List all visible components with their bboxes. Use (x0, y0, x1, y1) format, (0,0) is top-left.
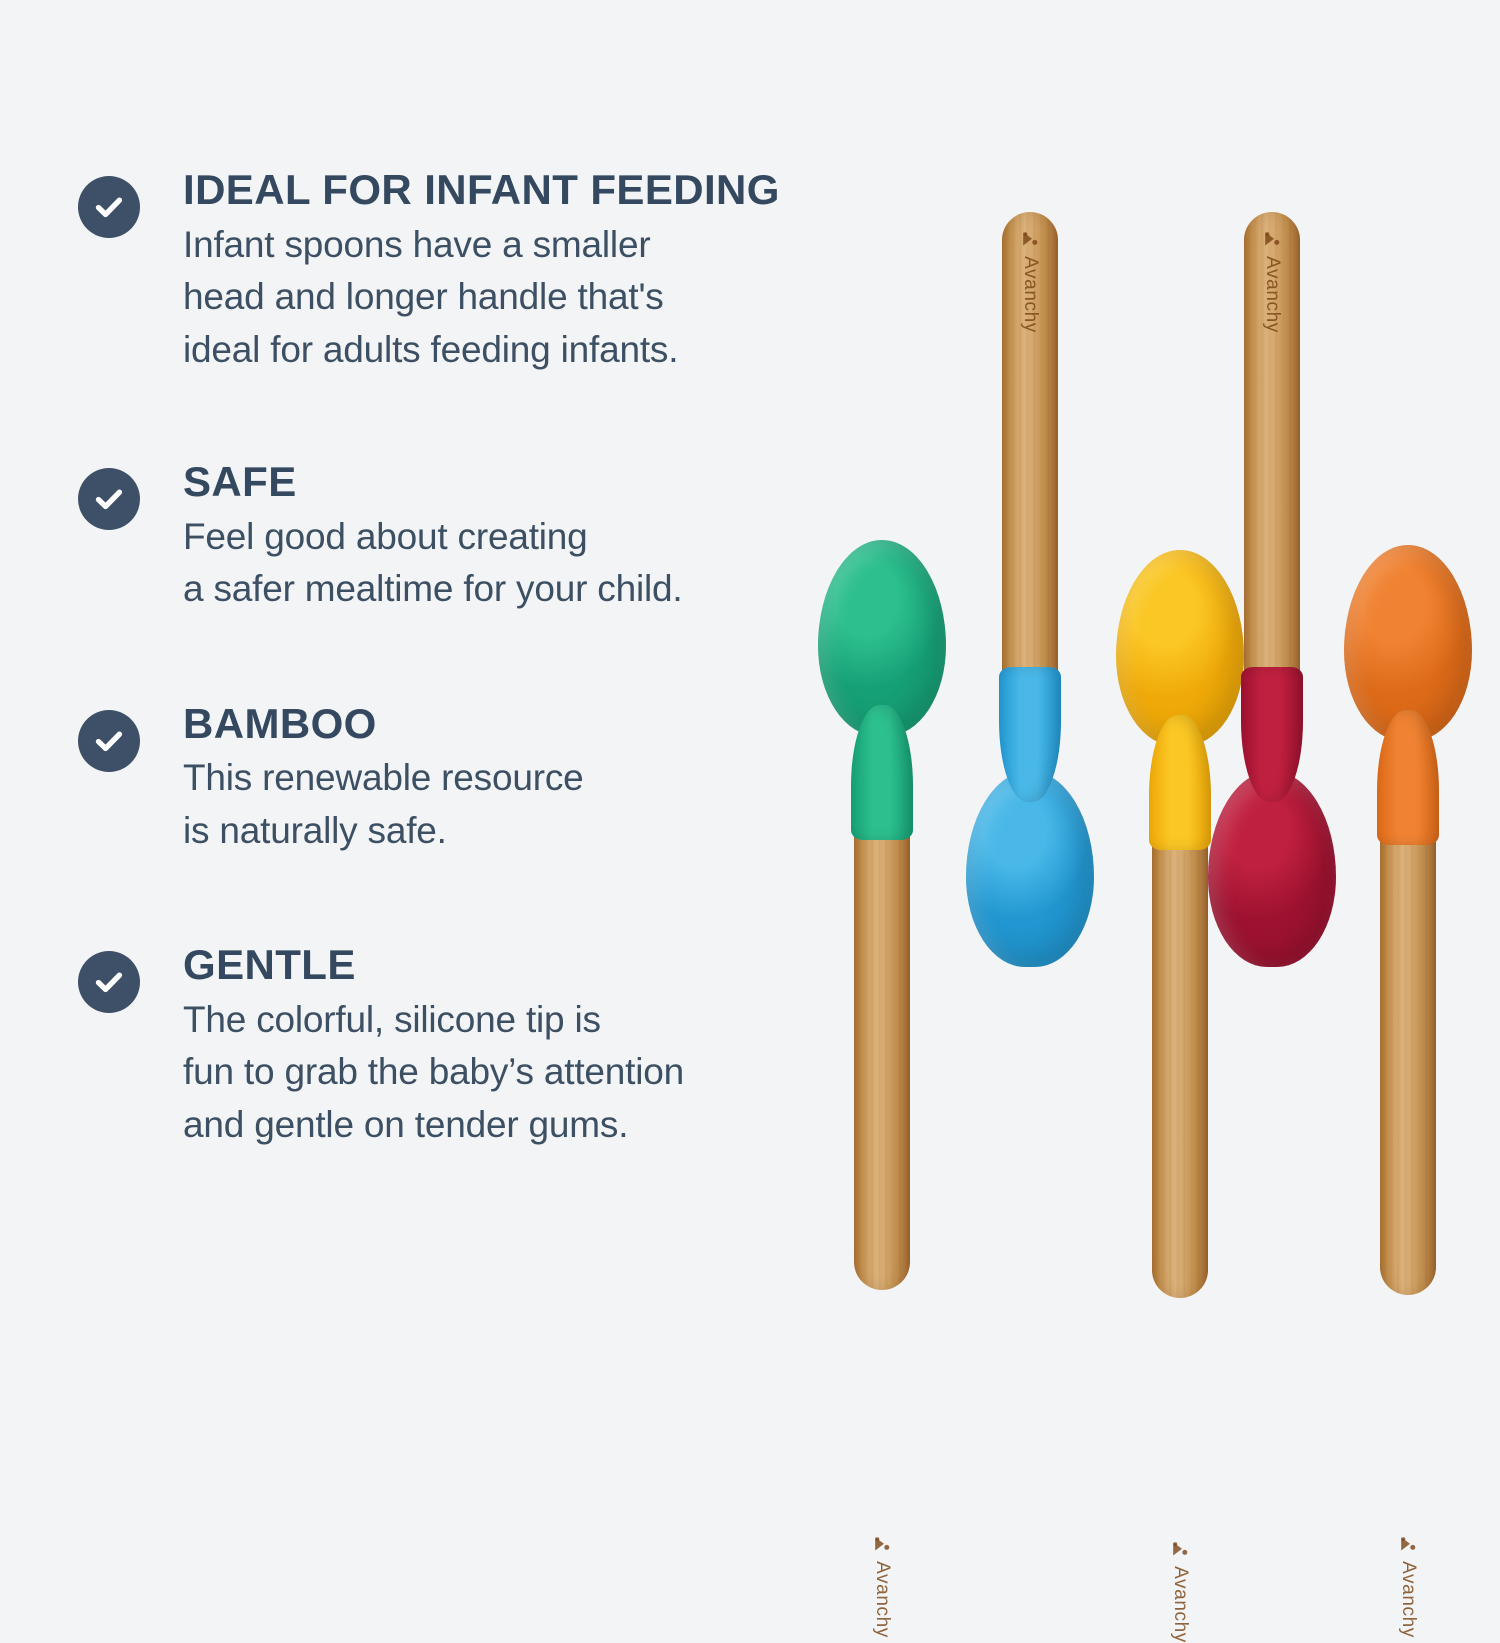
brand-engraving: Avanchy (1169, 1539, 1191, 1643)
feature-body: Infant spoons have a smaller head and lo… (183, 219, 818, 377)
product-image-spoon-set: Avanchy Avanchy (800, 150, 1480, 1350)
spoon-neck (1149, 715, 1211, 850)
feature-body-line: fun to grab the baby’s attention (183, 1046, 818, 1099)
infographic-canvas: IDEAL FOR INFANT FEEDING Infant spoons h… (0, 0, 1500, 1500)
brand-engraving: Avanchy (1397, 1534, 1419, 1638)
bamboo-handle (854, 785, 910, 1290)
check-circle-icon (78, 710, 140, 772)
avanchy-figure-logo (1170, 1539, 1190, 1559)
silicone-spoon-head (966, 667, 1094, 967)
silicone-spoon-head (818, 540, 946, 840)
brand-name: Avanchy (1397, 1561, 1419, 1638)
feature-item-ideal-for-infant-feeding: IDEAL FOR INFANT FEEDING Infant spoons h… (78, 168, 818, 376)
feature-item-safe: SAFE Feel good about creating a safer me… (78, 460, 818, 616)
feature-title: BAMBOO (183, 702, 818, 747)
brand-name: Avanchy (871, 1561, 893, 1638)
silicone-spoon-head (1344, 545, 1472, 845)
spoon-neck (851, 705, 913, 840)
brand-engraving: Avanchy (871, 1534, 893, 1638)
feature-body-line: ideal for adults feeding infants. (183, 324, 818, 377)
spoon-neck (1377, 710, 1439, 845)
avanchy-figure-logo (872, 1534, 892, 1554)
feature-item-gentle: GENTLE The colorful, silicone tip is fun… (78, 943, 818, 1151)
check-circle-icon (78, 176, 140, 238)
feature-title: IDEAL FOR INFANT FEEDING (183, 168, 818, 213)
bamboo-handle (1244, 212, 1300, 682)
feature-body: The colorful, silicone tip is fun to gra… (183, 994, 818, 1152)
feature-title: SAFE (183, 460, 818, 505)
check-circle-icon (78, 951, 140, 1013)
silicone-spoon-head (1208, 667, 1336, 967)
feature-body-line: a safer mealtime for your child. (183, 563, 818, 616)
check-circle-icon (78, 468, 140, 530)
feature-body-line: This renewable resource (183, 752, 818, 805)
feature-item-bamboo: BAMBOO This renewable resource is natura… (78, 702, 818, 858)
feature-body-line: and gentle on tender gums. (183, 1099, 818, 1152)
brand-name: Avanchy (1169, 1566, 1191, 1643)
feature-list: IDEAL FOR INFANT FEEDING Infant spoons h… (78, 168, 818, 1151)
feature-title: GENTLE (183, 943, 818, 988)
avanchy-figure-logo (1398, 1534, 1418, 1554)
feature-body-line: is naturally safe. (183, 805, 818, 858)
feature-body-line: Infant spoons have a smaller (183, 219, 818, 272)
feature-body: Feel good about creating a safer mealtim… (183, 511, 818, 616)
bamboo-handle (1380, 793, 1436, 1295)
feature-body-line: The colorful, silicone tip is (183, 994, 818, 1047)
feature-body-line: head and longer handle that's (183, 271, 818, 324)
feature-body: This renewable resource is naturally saf… (183, 752, 818, 857)
bamboo-handle (1002, 212, 1058, 682)
bamboo-handle (1152, 798, 1208, 1298)
feature-body-line: Feel good about creating (183, 511, 818, 564)
